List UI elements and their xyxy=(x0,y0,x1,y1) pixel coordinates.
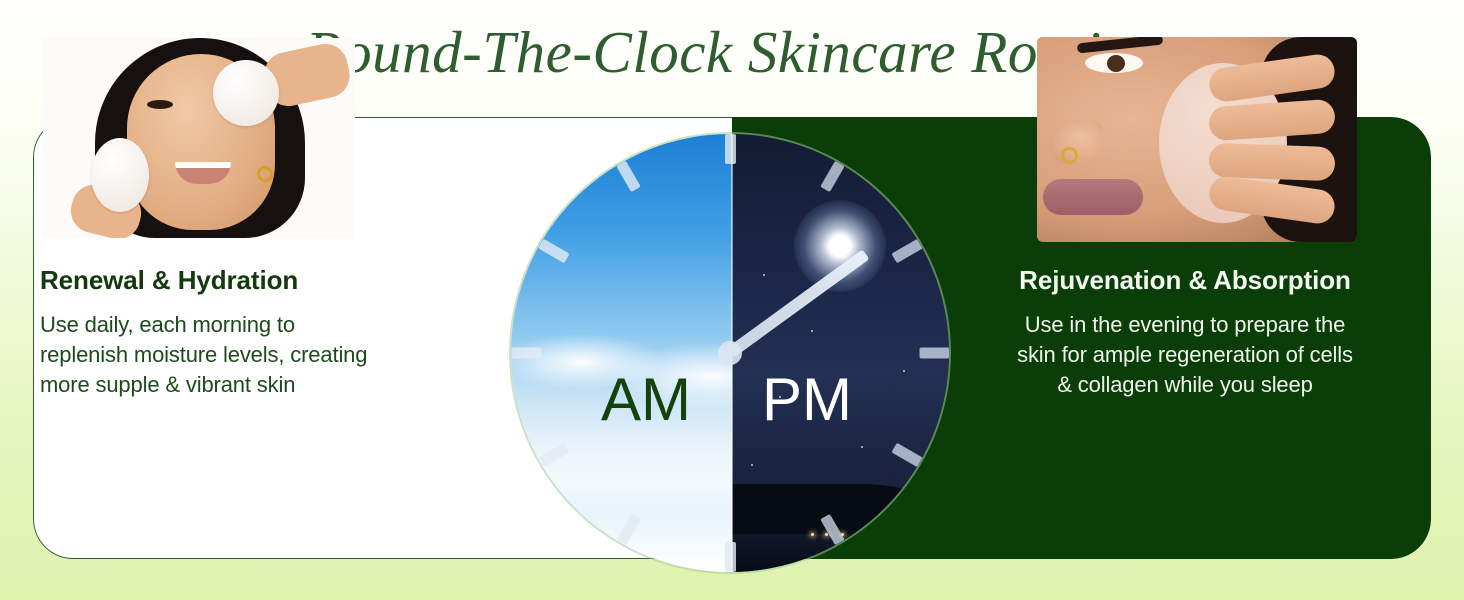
clock-tick-12 xyxy=(725,134,736,164)
earring-icon xyxy=(257,166,273,182)
star-icon xyxy=(861,446,863,448)
city-light-icon xyxy=(811,533,814,536)
hand-shape xyxy=(1209,55,1341,225)
am-body-line: replenish moisture levels, creating xyxy=(40,340,470,370)
eye-shape xyxy=(1085,53,1143,73)
pm-body-line: Use in the evening to prepare the xyxy=(970,310,1400,340)
clock-hub xyxy=(718,341,742,365)
eyebrow-shape xyxy=(1077,37,1164,53)
star-icon xyxy=(829,246,831,248)
clock-tick-3 xyxy=(919,348,949,359)
finger-shape xyxy=(1208,143,1335,181)
am-label: AM xyxy=(601,370,691,430)
finger-shape xyxy=(1208,99,1336,142)
star-icon xyxy=(903,370,905,372)
am-body-line: Use daily, each morning to xyxy=(40,310,470,340)
clock-day-half xyxy=(511,134,732,572)
am-body-line: more supple & vibrant skin xyxy=(40,370,470,400)
lips-shape xyxy=(1043,179,1143,215)
star-icon xyxy=(751,464,753,466)
nose-ring-icon xyxy=(1061,147,1078,164)
pm-body: Use in the evening to prepare the skin f… xyxy=(970,310,1400,400)
ampm-clock xyxy=(511,134,949,572)
star-icon xyxy=(763,274,765,276)
am-text-block: Renewal & Hydration Use daily, each morn… xyxy=(40,265,470,400)
water-shape xyxy=(511,456,732,572)
pm-body-line: skin for ample regeneration of cells xyxy=(970,340,1400,370)
pm-label: PM xyxy=(762,370,852,430)
night-scene xyxy=(732,134,949,572)
clock-tick-9 xyxy=(511,348,541,359)
cotton-pad-icon xyxy=(91,138,149,212)
am-heading: Renewal & Hydration xyxy=(40,265,470,296)
pm-photo xyxy=(1037,37,1357,242)
day-scene xyxy=(511,134,732,572)
am-photo xyxy=(43,38,355,238)
star-icon xyxy=(811,330,813,332)
am-photo-scene xyxy=(43,38,355,238)
pm-body-line: & collagen while you sleep xyxy=(970,370,1400,400)
finger-shape xyxy=(1207,174,1337,225)
cotton-pad-icon xyxy=(213,60,279,126)
clock-tick-6 xyxy=(725,542,736,572)
clock-night-half xyxy=(732,134,949,572)
pm-heading: Rejuvenation & Absorption xyxy=(970,265,1400,296)
am-body: Use daily, each morning to replenish moi… xyxy=(40,310,470,400)
finger-shape xyxy=(1207,52,1337,103)
pm-photo-scene xyxy=(1037,37,1357,242)
pm-text-block: Rejuvenation & Absorption Use in the eve… xyxy=(970,265,1400,400)
eye-shape xyxy=(147,100,173,109)
hills-shape xyxy=(732,484,949,538)
